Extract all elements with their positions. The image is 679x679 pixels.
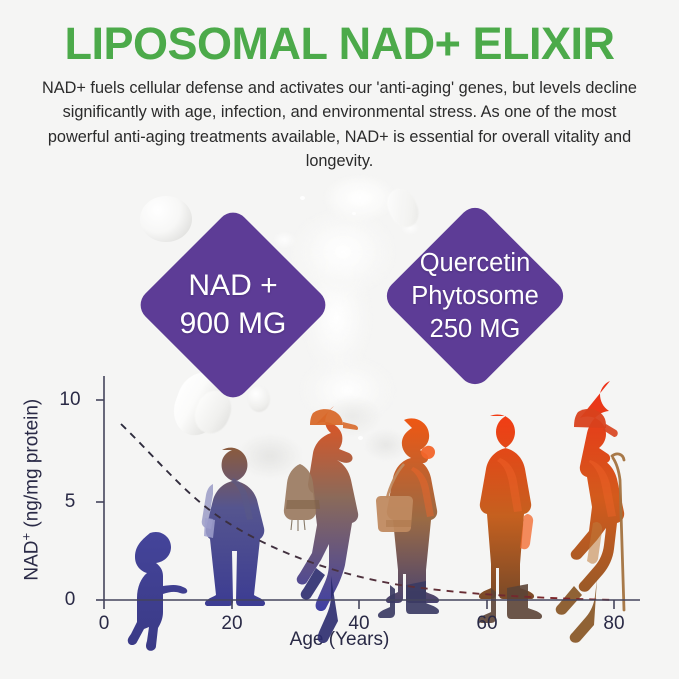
y-tick-5: 5 <box>54 491 86 513</box>
x-tick-80: 80 <box>594 613 634 635</box>
capsule-icon <box>382 184 424 232</box>
y-tick-10: 10 <box>54 389 86 411</box>
quercetin-badge-line3: 250 MG <box>430 313 521 346</box>
page-title: LIPOSOMAL NAD+ ELIXIR <box>0 18 679 70</box>
nad-decline-curve <box>121 424 614 600</box>
figure-young-adult <box>284 406 358 643</box>
figure-older-adult <box>479 414 542 623</box>
powder-fleck-icon <box>300 196 305 200</box>
figure-adult <box>376 418 439 618</box>
chart-axes <box>96 376 640 609</box>
x-tick-40: 40 <box>339 613 379 635</box>
nad-badge-text: NAD + 900 MG <box>163 235 303 375</box>
product-infographic: LIPOSOMAL NAD+ ELIXIR NAD+ fuels cellula… <box>0 0 679 679</box>
quercetin-badge: Quercetin Phytosome 250 MG <box>380 201 570 391</box>
page-subtitle: NAD+ fuels cellular defense and activate… <box>34 76 645 173</box>
quercetin-badge-line1: Quercetin <box>420 247 531 280</box>
quercetin-badge-text: Quercetin Phytosome 250 MG <box>408 229 542 363</box>
nad-badge-line1: NAD + <box>188 267 277 305</box>
figure-toddler <box>128 532 188 651</box>
nad-decline-chart: NAD+ (ng/mg protein) Age (Years) <box>0 372 679 679</box>
y-tick-0: 0 <box>54 589 86 611</box>
quercetin-badge-line2: Phytosome <box>411 280 539 313</box>
figure-teen <box>202 448 265 606</box>
x-tick-0: 0 <box>84 613 124 635</box>
x-tick-60: 60 <box>467 613 507 635</box>
nad-badge-line2: 900 MG <box>180 305 287 343</box>
powder-fleck-icon <box>352 212 356 215</box>
x-tick-20: 20 <box>212 613 252 635</box>
